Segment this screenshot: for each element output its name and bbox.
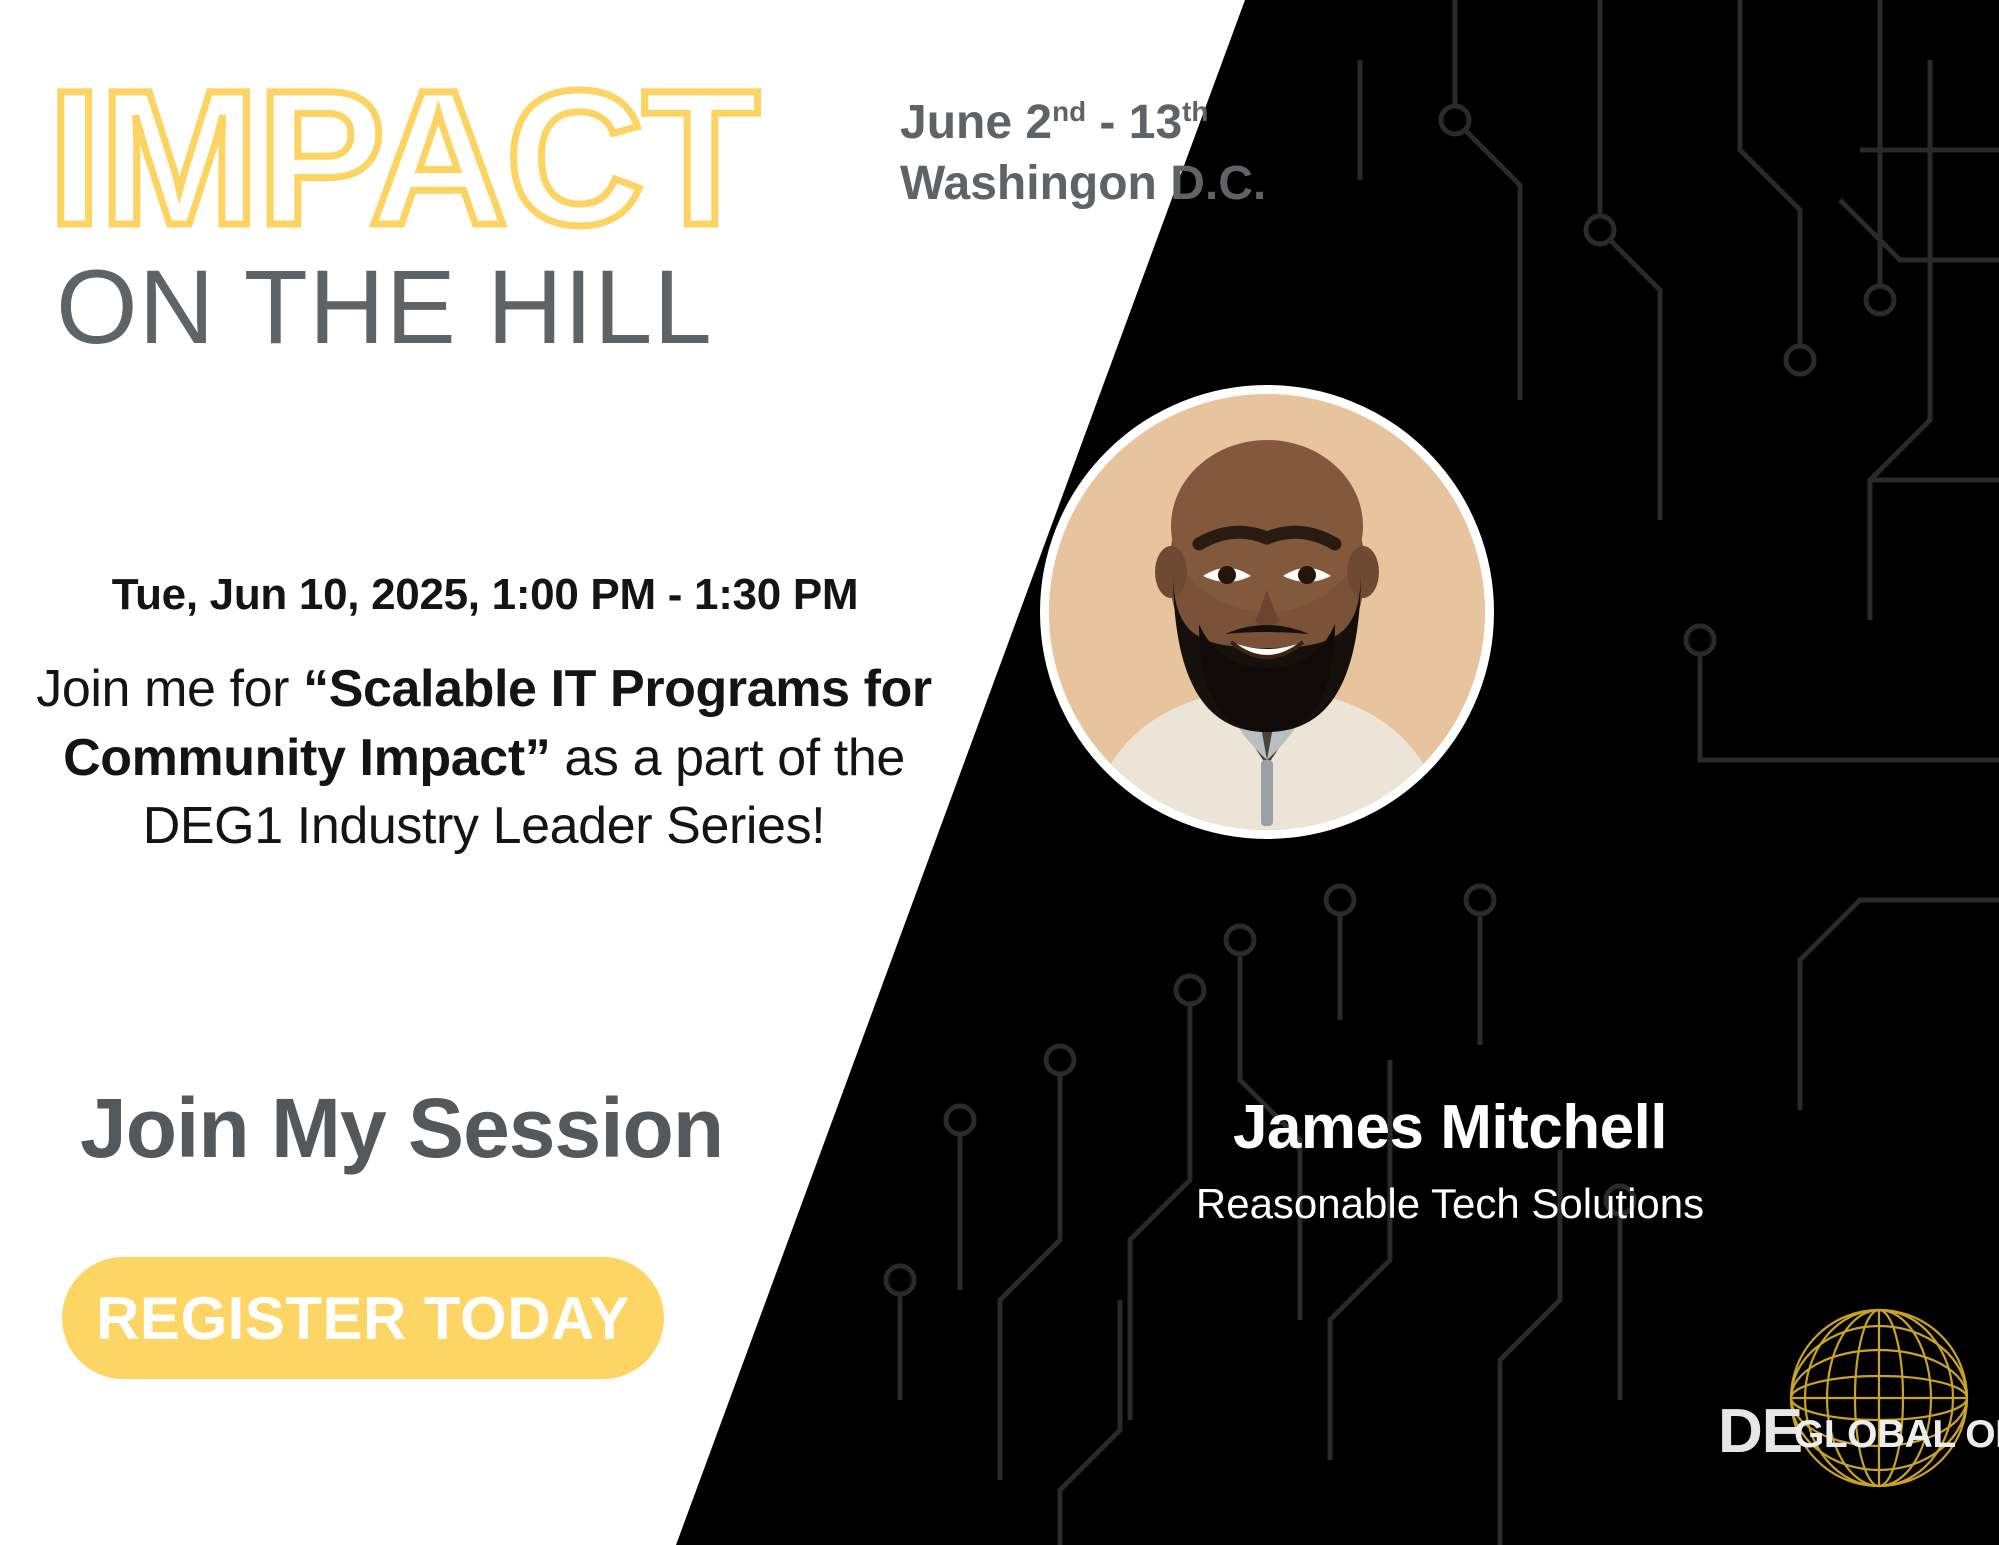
globe-wireframe-icon — [1784, 1303, 1974, 1493]
brand-logo-primary: DE — [1718, 1401, 1802, 1463]
session-description-lead: Join me for — [36, 660, 289, 718]
page-title-solid: ON THE HILL — [56, 255, 713, 360]
event-day-start-ordinal: nd — [1052, 96, 1086, 127]
session-description: Join me for “Scalable IT Programs for Co… — [14, 655, 954, 861]
event-location: Washingon D.C. — [900, 153, 1266, 214]
speaker-name: James Mitchell — [1050, 1092, 1850, 1163]
event-day-end-ordinal: th — [1182, 96, 1208, 127]
event-month: June — [900, 96, 1012, 149]
event-date-line: June 2nd - 13th — [900, 92, 1266, 153]
event-day-end: 13 — [1129, 96, 1182, 149]
page-title-outline: IMPACT — [48, 62, 758, 254]
speaker-organization: Reasonable Tech Solutions — [1050, 1180, 1850, 1228]
event-day-start: 2 — [1025, 96, 1052, 149]
event-date-separator: - — [1099, 96, 1115, 149]
speaker-headshot-illustration — [1049, 394, 1485, 830]
brand-logo: DE GLOBAL ONE — [1698, 1295, 1998, 1495]
speaker-avatar — [1040, 385, 1494, 839]
event-dates-location: June 2nd - 13th Washingon D.C. — [900, 92, 1266, 215]
register-today-button[interactable]: REGISTER TODAY — [62, 1257, 664, 1379]
cta-heading: Join My Session — [80, 1080, 723, 1177]
brand-logo-secondary: GLOBAL ONE — [1794, 1415, 1999, 1454]
event-promo-poster: IMPACT ON THE HILL June 2nd - 13th Washi… — [0, 0, 1999, 1545]
session-datetime: Tue, Jun 10, 2025, 1:00 PM - 1:30 PM — [0, 570, 970, 620]
